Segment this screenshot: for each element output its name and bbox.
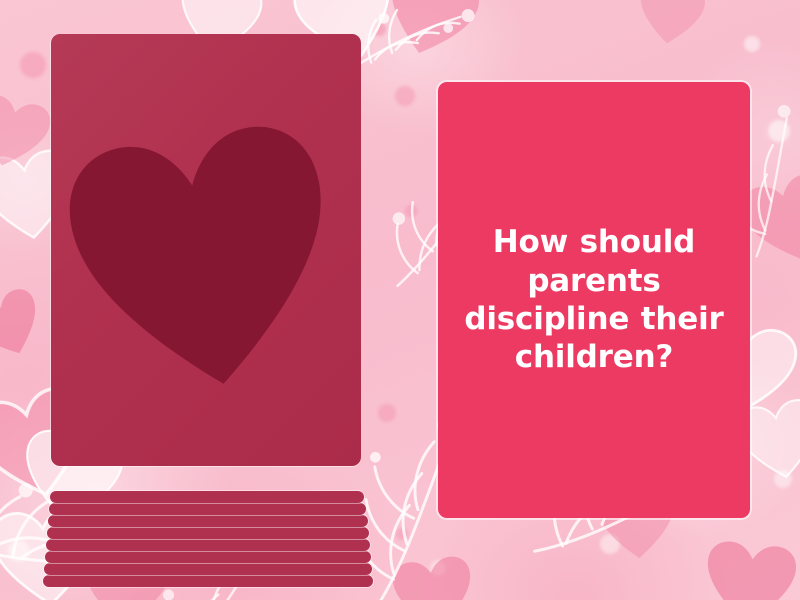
heart-icon [54,110,354,410]
watercolor-dot [744,36,760,52]
watercolor-dot [20,52,46,78]
question-text: How should parents discipline their chil… [448,223,740,377]
deck-stack-layer [49,503,366,515]
deck-stack-layer [47,527,369,539]
deck-top-card[interactable] [51,34,361,466]
watercolor-dot [378,404,396,422]
deck-stack-layer [45,551,371,563]
flashcard-stage: How should parents discipline their chil… [0,0,800,600]
deck-stack-layer [46,539,370,551]
deck-stack-layer [50,491,364,503]
deck-stack-layer [43,575,373,587]
heart-filled-icon [632,0,710,51]
question-card[interactable]: How should parents discipline their chil… [438,82,750,518]
deck-stack-layer [44,563,372,575]
deck-stack-layer [48,515,368,527]
